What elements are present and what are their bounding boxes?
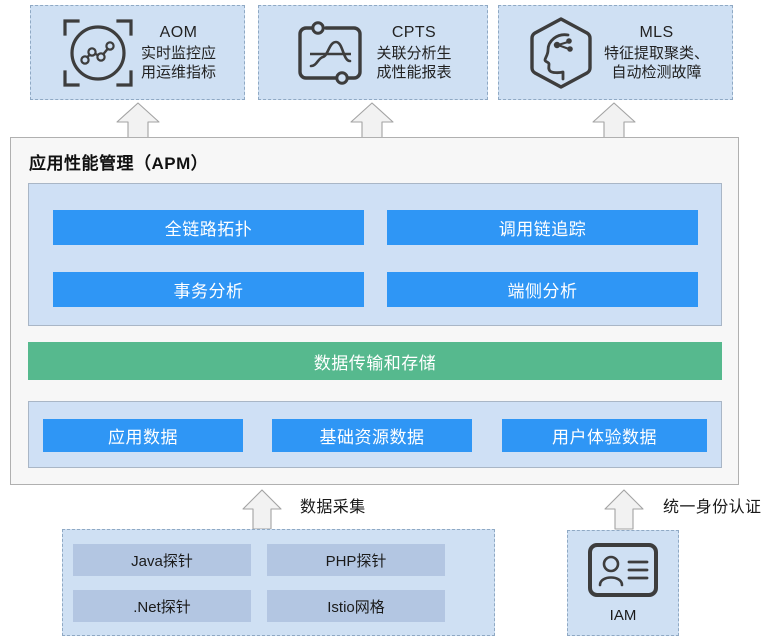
apm-container: 应用性能管理（APM） 全链路拓扑 调用链追踪 事务分析 端侧分析 数据传输和存… (10, 137, 739, 485)
service-card-aom-text: AOM 实时监控应 用运维指标 (141, 23, 216, 82)
iam-label: IAM (610, 607, 637, 624)
service-card-mls-text: MLS 特征提取聚类、 自动检测故障 (604, 23, 709, 82)
architecture-diagram: AOM 实时监控应 用运维指标 CPTS 关联分析生 成性能报表 (0, 0, 763, 642)
edge-label-data-collection: 数据采集 (300, 493, 366, 517)
service-card-aom[interactable]: AOM 实时监控应 用运维指标 (30, 5, 245, 100)
apm-title: 应用性能管理（APM） (29, 149, 208, 174)
apm-data-source-panel: 应用数据 基础资源数据 用户体验数据 (28, 401, 722, 468)
performance-chart-icon (294, 14, 372, 92)
data-source-button-resource[interactable]: 基础资源数据 (272, 419, 472, 452)
feature-button-device[interactable]: 端侧分析 (387, 272, 698, 307)
service-card-cpts[interactable]: CPTS 关联分析生 成性能报表 (258, 5, 488, 100)
probe-panel: Java探针 PHP探针 .Net探针 Istio网格 (62, 529, 495, 636)
service-card-mls[interactable]: MLS 特征提取聚类、 自动检测故障 (498, 5, 733, 100)
service-desc-line1: 关联分析生 (376, 44, 451, 63)
probe-button-istio[interactable]: Istio网格 (267, 590, 445, 622)
probe-button-java[interactable]: Java探针 (73, 544, 251, 576)
id-card-icon (587, 542, 659, 603)
service-title: CPTS (392, 23, 436, 43)
probe-button-net[interactable]: .Net探针 (73, 590, 251, 622)
data-source-button-app[interactable]: 应用数据 (43, 419, 243, 452)
service-desc-line2: 自动检测故障 (611, 63, 701, 82)
edge-label-unified-auth: 统一身份认证 (663, 493, 761, 517)
ai-head-hexagon-icon (522, 14, 600, 92)
arrow-probes-to-apm (240, 488, 284, 535)
service-desc-line1: 实时监控应 (141, 44, 216, 63)
service-title: AOM (160, 23, 198, 43)
iam-card[interactable]: IAM (567, 530, 679, 636)
apm-feature-panel: 全链路拓扑 调用链追踪 事务分析 端侧分析 (28, 183, 722, 326)
service-title: MLS (639, 23, 673, 43)
line-chart-scan-icon (59, 14, 137, 92)
service-desc-line2: 用运维指标 (141, 63, 216, 82)
service-desc-line2: 成性能报表 (376, 63, 451, 82)
feature-button-transaction[interactable]: 事务分析 (53, 272, 364, 307)
arrow-iam-to-apm (602, 488, 646, 535)
data-source-button-ux[interactable]: 用户体验数据 (502, 419, 707, 452)
feature-button-topology[interactable]: 全链路拓扑 (53, 210, 364, 245)
probe-button-php[interactable]: PHP探针 (267, 544, 445, 576)
service-desc-line1: 特征提取聚类、 (604, 44, 709, 63)
service-card-cpts-text: CPTS 关联分析生 成性能报表 (376, 23, 451, 82)
storage-bar[interactable]: 数据传输和存储 (28, 342, 722, 380)
feature-button-tracing[interactable]: 调用链追踪 (387, 210, 698, 245)
